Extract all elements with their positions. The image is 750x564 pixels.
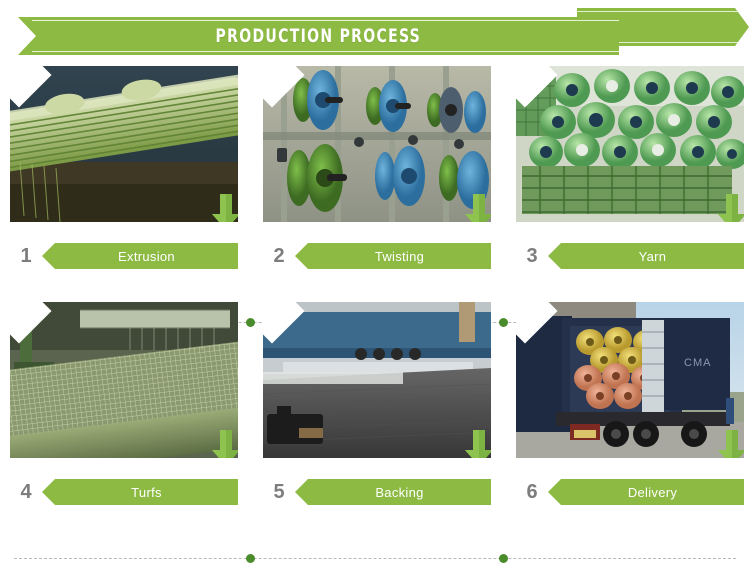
- step-number: 4: [10, 482, 42, 502]
- photo-illustration: [10, 302, 238, 458]
- banner-inner-line-top: [577, 11, 739, 12]
- step-caption: 2 Twisting: [263, 236, 491, 276]
- step-photo-turfs: [10, 302, 238, 458]
- process-row-2: 4 Turfs: [0, 302, 750, 520]
- step-number: 6: [516, 482, 548, 502]
- process-steps-grid: 1 Extrusion: [0, 62, 750, 528]
- process-step-card[interactable]: 1 Extrusion: [10, 66, 238, 284]
- step-caption: 1 Extrusion: [10, 236, 238, 276]
- down-arrow-icon: [463, 192, 491, 222]
- down-arrow-icon: [210, 428, 238, 458]
- down-arrow-icon: [210, 192, 238, 222]
- step-photo-backing: [263, 302, 491, 458]
- step-caption: 4 Turfs: [10, 472, 238, 512]
- photo-illustration: [516, 66, 744, 222]
- banner-main-inner-line-top: [32, 20, 619, 21]
- step-label-bar[interactable]: Extrusion: [42, 243, 238, 269]
- step-number: 5: [263, 482, 295, 502]
- divider-dashed-line: [14, 558, 736, 559]
- down-arrow-icon: [463, 428, 491, 458]
- down-arrow-icon: [716, 428, 744, 458]
- step-label: Yarn: [639, 249, 667, 264]
- banner-main-inner-line-bottom: [32, 51, 619, 52]
- step-label: Turfs: [131, 485, 162, 500]
- step-number: 2: [263, 246, 295, 266]
- step-number: 3: [516, 246, 548, 266]
- divider-dot: [499, 554, 508, 563]
- step-label: Twisting: [375, 249, 424, 264]
- step-photo-extrusion: [10, 66, 238, 222]
- step-label-bar[interactable]: Twisting: [295, 243, 491, 269]
- down-arrow-icon: [716, 192, 744, 222]
- svg-text:CMA: CMA: [684, 357, 711, 369]
- step-photo-yarn: [516, 66, 744, 222]
- photo-illustration: [263, 66, 491, 222]
- banner-main-ribbon: PRODUCTION PROCESS: [18, 17, 619, 55]
- row-divider: [14, 554, 736, 564]
- photo-illustration: CMA: [516, 302, 744, 458]
- process-step-card[interactable]: 4 Turfs: [10, 302, 238, 520]
- step-label-bar[interactable]: Delivery: [548, 479, 744, 505]
- step-caption: 5 Backing: [263, 472, 491, 512]
- process-step-card[interactable]: 3 Yarn: [516, 66, 744, 284]
- step-label-bar[interactable]: Yarn: [548, 243, 744, 269]
- divider-dot: [246, 554, 255, 563]
- step-caption: 6 Delivery: [516, 472, 744, 512]
- page-header-banner: PRODUCTION PROCESS: [0, 0, 750, 62]
- step-photo-twisting: [263, 66, 491, 222]
- step-number: 1: [10, 246, 42, 266]
- process-step-card[interactable]: 2 Twisting: [263, 66, 491, 284]
- process-row-1: 1 Extrusion: [0, 66, 750, 284]
- page-title: PRODUCTION PROCESS: [216, 25, 422, 47]
- step-label: Backing: [375, 485, 423, 500]
- photo-illustration: [263, 302, 491, 458]
- process-step-card[interactable]: 5 Backing: [263, 302, 491, 520]
- step-label-bar[interactable]: Turfs: [42, 479, 238, 505]
- step-label: Extrusion: [118, 249, 175, 264]
- step-photo-delivery: CMA: [516, 302, 744, 458]
- photo-illustration: [10, 66, 238, 222]
- step-label: Delivery: [628, 485, 677, 500]
- process-step-card[interactable]: CMA 6: [516, 302, 744, 520]
- step-label-bar[interactable]: Backing: [295, 479, 491, 505]
- step-caption: 3 Yarn: [516, 236, 744, 276]
